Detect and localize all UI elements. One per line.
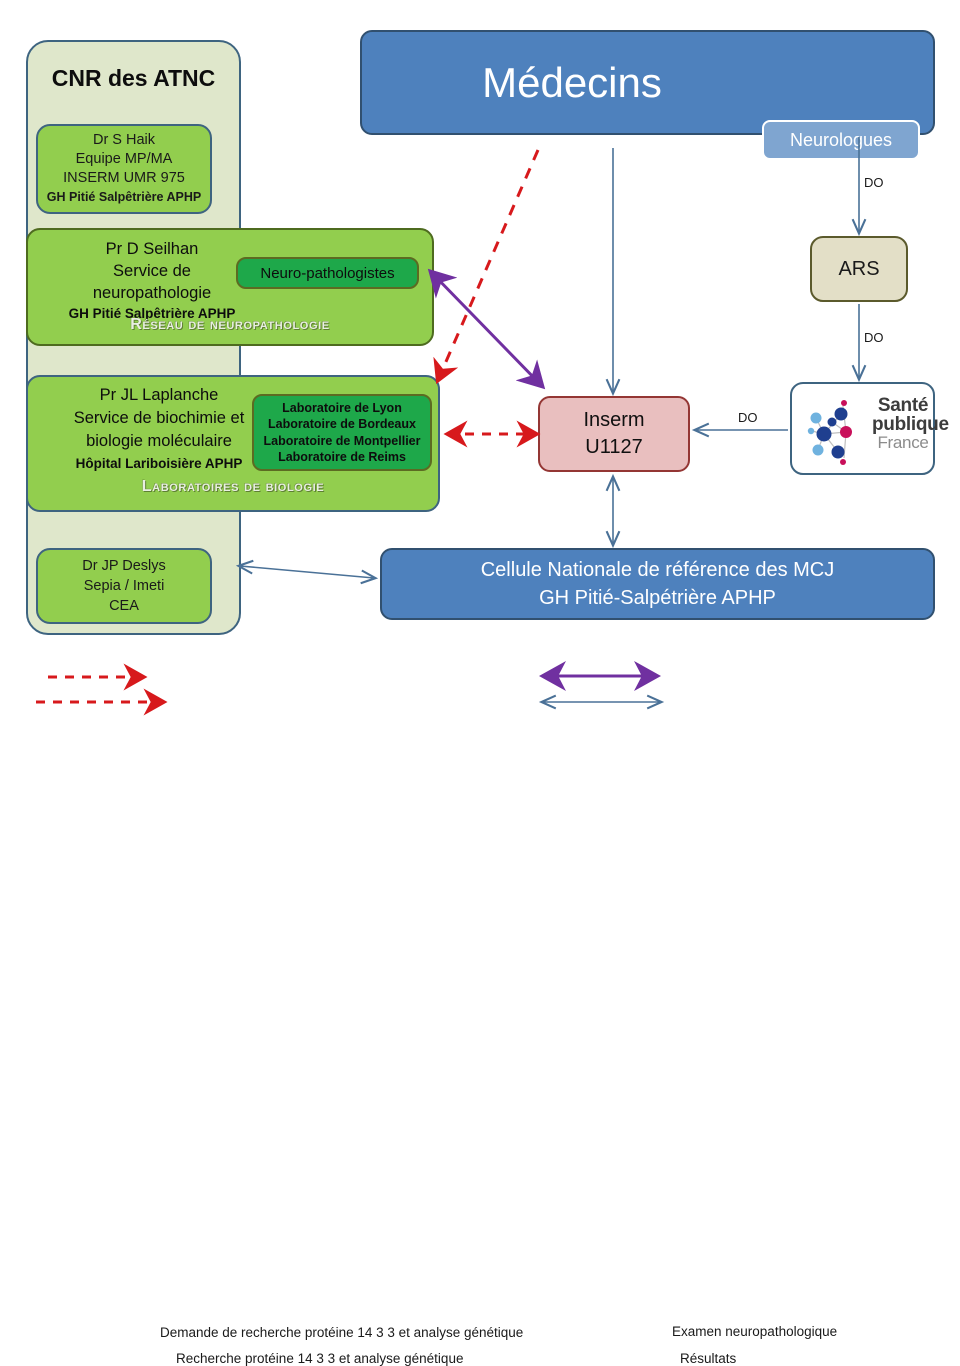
medecins-title: Médecins bbox=[362, 60, 782, 106]
neuropatho-line-1: Pr D Seilhan bbox=[42, 238, 262, 260]
legend-label-recherche: Recherche protéine 14 3 3 et analyse gén… bbox=[176, 1351, 463, 1366]
lab-item: Laboratoire de Lyon bbox=[282, 400, 402, 417]
diagram-canvas: CNR des ATNC Dr S Haik Equipe MP/MA INSE… bbox=[0, 0, 960, 720]
haik-line-4: GH Pitié Salpêtrière APHP bbox=[47, 188, 201, 207]
haik-line-3: INSERM UMR 975 bbox=[63, 169, 185, 188]
label-do-spf-inserm: DO bbox=[738, 410, 758, 425]
neuropatho-line-2: Service de bbox=[42, 260, 262, 282]
legend-label-demande: Demande de recherche protéine 14 3 3 et … bbox=[160, 1325, 523, 1340]
spf-line-3: France bbox=[872, 434, 934, 451]
legend-label-resultats: Résultats bbox=[680, 1351, 736, 1366]
spf-line-2: publique bbox=[872, 415, 934, 434]
box-laboratoires-list[interactable]: Laboratoire de Lyon Laboratoire de Borde… bbox=[252, 394, 432, 471]
cnr-title: CNR des ATNC bbox=[26, 58, 241, 98]
label-do-ars-spf: DO bbox=[864, 330, 884, 345]
legend-label-examen: Examen neuropathologique bbox=[672, 1324, 837, 1339]
arrow-demande-recherche-proteine bbox=[438, 150, 538, 380]
inserm-line-1: Inserm bbox=[583, 407, 644, 434]
haik-line-2: Equipe MP/MA bbox=[76, 150, 173, 169]
arrow-deslys-cellule bbox=[240, 566, 374, 578]
deslys-line-3: CEA bbox=[109, 596, 139, 616]
caption-reseau-neuropathologie: Réseau de neuropathologie bbox=[28, 316, 432, 334]
neuropatho-text-block: Pr D Seilhan Service de neuropathologie … bbox=[42, 238, 262, 324]
box-sante-publique-france[interactable]: Santé publique France bbox=[790, 382, 935, 475]
box-inserm-u1127[interactable]: Inserm U1127 bbox=[538, 396, 690, 472]
cellule-line-1: Cellule Nationale de référence des MCJ bbox=[481, 556, 835, 584]
biologie-line-1: Pr JL Laplanche bbox=[44, 384, 274, 407]
arrow-examen-neuropathologique bbox=[432, 273, 541, 385]
biologie-line-3: biologie moléculaire bbox=[44, 430, 274, 453]
lab-item: Laboratoire de Bordeaux bbox=[268, 416, 416, 433]
inserm-line-2: U1127 bbox=[585, 434, 642, 461]
neuropatho-line-3: neuropathologie bbox=[42, 282, 262, 304]
box-cellule-nationale[interactable]: Cellule Nationale de référence des MCJ G… bbox=[380, 548, 935, 620]
spf-wordmark: Santé publique France bbox=[872, 396, 934, 451]
box-dr-s-haik[interactable]: Dr S Haik Equipe MP/MA INSERM UMR 975 GH… bbox=[36, 124, 212, 214]
badge-neurologues[interactable]: Neurologues bbox=[762, 120, 920, 160]
biologie-line-4: Hôpital Lariboisière APHP bbox=[44, 453, 274, 474]
lab-item: Laboratoire de Reims bbox=[278, 449, 406, 466]
biologie-line-2: Service de biochimie et bbox=[44, 407, 274, 430]
cellule-line-2: GH Pitié-Salpétrière APHP bbox=[539, 584, 776, 612]
box-dr-jp-deslys[interactable]: Dr JP Deslys Sepia / Imeti CEA bbox=[36, 548, 212, 624]
box-ars[interactable]: ARS bbox=[810, 236, 908, 302]
sante-publique-france-logo-icon bbox=[798, 390, 876, 470]
caption-laboratoires-de-biologie: Laboratoires de biologie bbox=[28, 478, 438, 496]
label-do-medecins-ars: DO bbox=[864, 175, 884, 190]
haik-line-1: Dr S Haik bbox=[93, 131, 155, 150]
lab-item: Laboratoire de Montpellier bbox=[264, 433, 421, 450]
box-neuro-pathologistes[interactable]: Neuro-pathologistes bbox=[236, 257, 419, 289]
biologie-text-block: Pr JL Laplanche Service de biochimie et … bbox=[44, 384, 274, 474]
deslys-line-2: Sepia / Imeti bbox=[84, 576, 165, 596]
spf-line-1: Santé bbox=[872, 396, 934, 415]
deslys-line-1: Dr JP Deslys bbox=[82, 556, 166, 576]
box-medecins[interactable]: Médecins Neurologues bbox=[360, 30, 935, 135]
legend: Demande de recherche protéine 14 3 3 et … bbox=[0, 655, 960, 720]
